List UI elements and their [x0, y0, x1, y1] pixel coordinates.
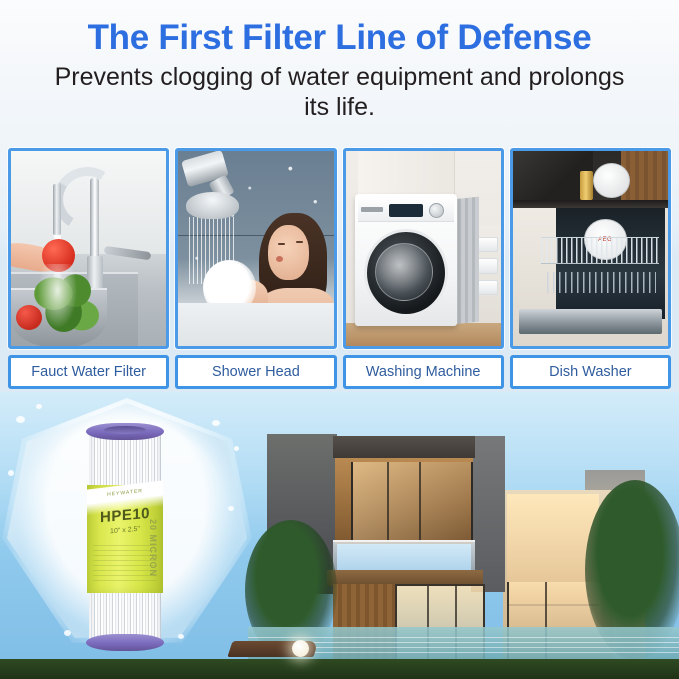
caption-shower: Shower Head [175, 355, 336, 389]
hero-scene: HEYWATER HPE10 10" x 2.5" 20 MICRON [0, 392, 679, 679]
photo-dishwasher: AEG [513, 151, 668, 346]
filter-label: HEYWATER HPE10 10" x 2.5" 20 MICRON [87, 485, 163, 593]
caption-dishwasher: Dish Washer [510, 355, 671, 389]
filter-end-cap-bottom [86, 634, 164, 651]
headline: The First Filter Line of Defense [0, 18, 679, 57]
application-item-dishwasher: AEG Dish Washer [510, 148, 671, 389]
photo-kitchen-faucet-washing-vegetables [11, 151, 166, 346]
filter-end-cap-top [86, 423, 164, 440]
photo-frame-faucet [8, 148, 169, 349]
application-item-faucet: Fauct Water Filter [8, 148, 169, 389]
lawn [0, 659, 679, 679]
water-splash: HEYWATER HPE10 10" x 2.5" 20 MICRON [2, 398, 252, 653]
application-strip: Fauct Water Filter [8, 148, 671, 389]
photo-child-in-shower [178, 151, 333, 346]
photo-washing-machine [346, 151, 501, 346]
application-item-washing-machine: Washing Machine [343, 148, 504, 389]
garden-sphere-lamp [292, 640, 309, 657]
water-filter-cartridge: HEYWATER HPE10 10" x 2.5" 20 MICRON [89, 423, 161, 651]
header: The First Filter Line of Defense Prevent… [0, 0, 679, 145]
photo-frame-washing-machine [343, 148, 504, 349]
lounge-chair [255, 641, 318, 657]
photo-frame-dishwasher: AEG [510, 148, 671, 349]
application-item-shower: Shower Head [175, 148, 336, 389]
caption-washing-machine: Washing Machine [343, 355, 504, 389]
photo-frame-shower [175, 148, 336, 349]
subheadline: Prevents clogging of water equipment and… [45, 63, 635, 122]
product-infographic: The First Filter Line of Defense Prevent… [0, 0, 679, 679]
caption-faucet: Fauct Water Filter [8, 355, 169, 389]
